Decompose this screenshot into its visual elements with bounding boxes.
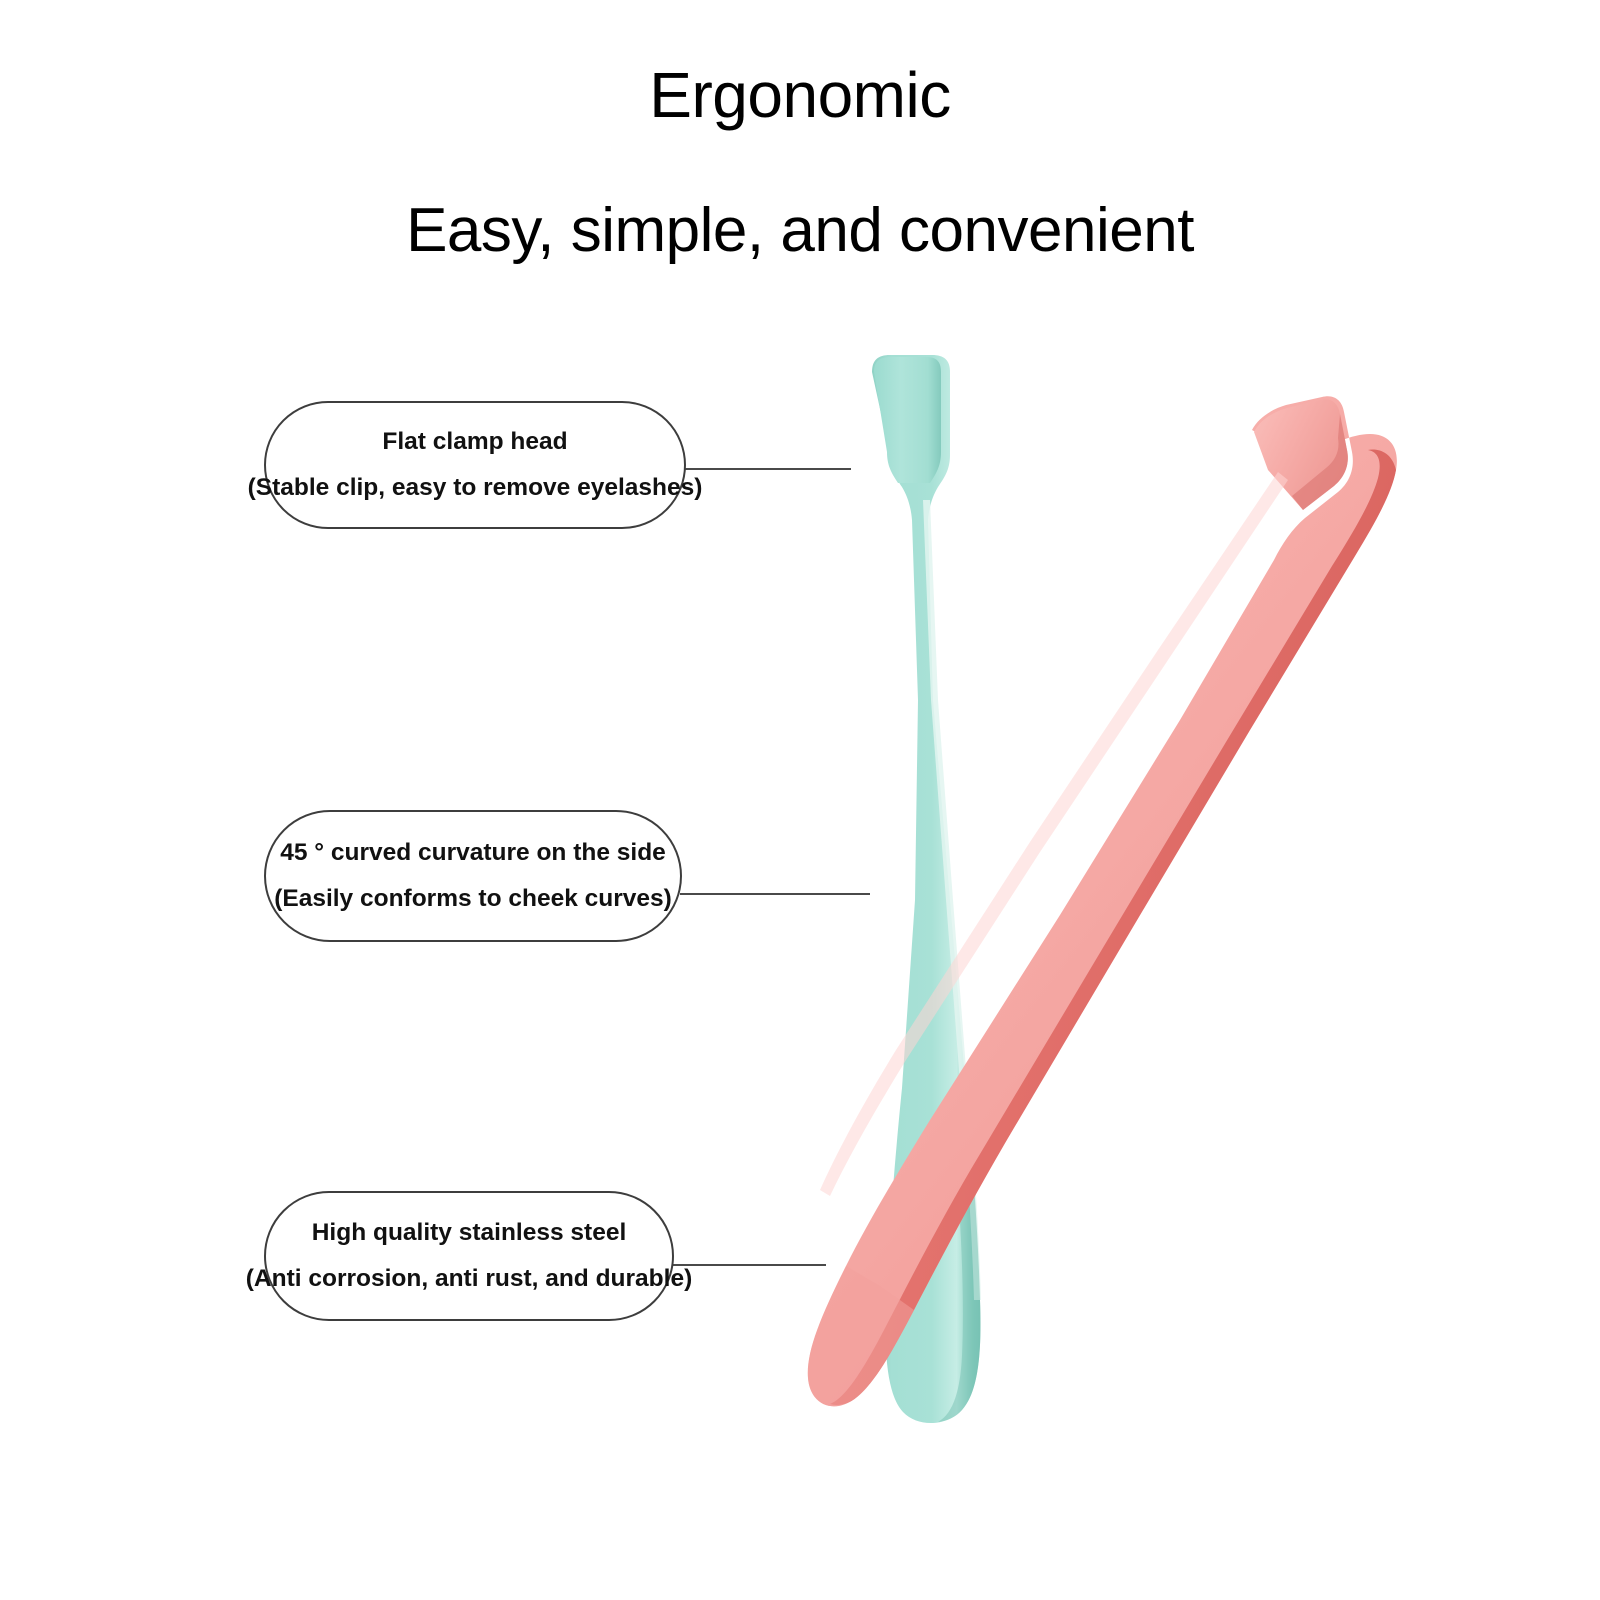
- pink-tweezer: [808, 396, 1397, 1406]
- mint-tweezer-head: [874, 357, 941, 483]
- mint-tweezer-highlight: [923, 500, 981, 1300]
- pink-tweezer-highlight: [820, 472, 1288, 1196]
- leader-line-stainless-steel: [671, 1264, 826, 1266]
- callout-stainless-steel: High quality stainless steel (Anti corro…: [264, 1191, 674, 1321]
- page-title-line-2: Easy, simple, and convenient: [0, 198, 1600, 263]
- mint-tweezer-edge-shadow: [938, 1090, 980, 1422]
- mint-tweezer-body: [872, 355, 980, 1423]
- callout-1-secondary-label: (Stable clip, easy to remove eyelashes): [248, 476, 703, 501]
- callout-1-primary-label: Flat clamp head: [382, 430, 567, 455]
- leader-line-flat-clamp-head: [683, 468, 851, 470]
- callout-flat-clamp-head: Flat clamp head (Stable clip, easy to re…: [264, 401, 686, 529]
- pink-tweezer-body: [808, 396, 1397, 1406]
- pink-tweezer-edge: [830, 450, 1396, 1405]
- pink-tweezer-head: [1254, 399, 1348, 510]
- pink-tweezer-head-shadow: [1292, 414, 1348, 510]
- mint-tweezer: [872, 355, 981, 1423]
- leader-line-curved-curvature: [680, 893, 870, 895]
- callout-curved-curvature: 45 ° curved curvature on the side (Easil…: [264, 810, 682, 942]
- page-title-line-1: Ergonomic: [0, 62, 1600, 129]
- callout-3-primary-label: High quality stainless steel: [312, 1221, 627, 1246]
- callout-3-secondary-label: (Anti corrosion, anti rust, and durable): [246, 1267, 692, 1292]
- callout-2-primary-label: 45 ° curved curvature on the side: [280, 841, 666, 866]
- callout-2-secondary-label: (Easily conforms to cheek curves): [274, 887, 672, 912]
- pink-tweezer-foot: [808, 1266, 914, 1406]
- infographic-page: Ergonomic Easy, simple, and convenient: [0, 0, 1600, 1600]
